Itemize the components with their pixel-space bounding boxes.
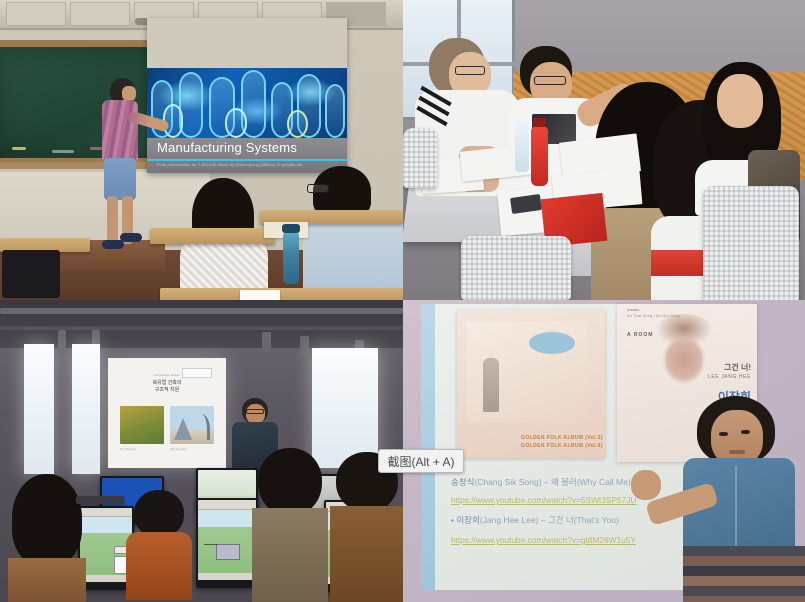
photo-top-right-group-discussion — [403, 0, 805, 300]
tr-chair-far-left — [403, 128, 437, 188]
tr-p2-glasses — [534, 76, 566, 85]
tl-presenter — [98, 78, 140, 253]
bl-thumb-caption-left: 목조 주택 사례 1 — [120, 448, 164, 451]
br-album-a-line2: GOLDEN FOLK ALBUM (Vol.6) — [511, 443, 603, 451]
bl-window-left — [24, 344, 54, 474]
bl-student-1-hair — [12, 474, 82, 566]
tl-presenter-shorts — [104, 158, 136, 200]
bl-student-right-back — [330, 452, 403, 602]
bl-screen-sketchup-center — [198, 500, 256, 580]
tl-student-glasses — [305, 166, 400, 300]
bl-student-3-top — [252, 508, 328, 602]
bl-instructor-face — [246, 404, 265, 424]
br-album-b-room: A ROOM — [627, 332, 653, 338]
tr-red-bottle — [531, 126, 548, 186]
bl-student-front-left — [8, 474, 86, 602]
br-lecturer-hand-gesture — [631, 470, 661, 500]
tl-chair-left — [2, 250, 60, 298]
br-lecturer-striped-lower — [683, 546, 805, 602]
bl-student-orange — [126, 490, 192, 600]
bl-slide-title-2: 구조적 지원 — [136, 387, 198, 394]
bl-projection-screen: Architecture Design 북유럽 건축의 구조적 지원 목조 주택… — [108, 358, 226, 468]
bl-student-center-back — [252, 448, 328, 602]
br-screen-blue-edge — [421, 304, 435, 590]
tl-presenter-shoe-right — [120, 233, 142, 242]
tr-p5-face — [717, 74, 763, 128]
tr-red-bottle-cap — [533, 118, 546, 127]
br-slide-line-2-english: (Jang Hee Lee) – 그건 너(That's You) — [480, 515, 619, 525]
tl-projection-screen: Manufacturing Systems Final presentation… — [147, 18, 347, 173]
br-album-golden-folk: GOLDEN FOLK ALBUM (Vol.5) GOLDEN FOLK AL… — [457, 310, 605, 458]
br-slide-url-1-text[interactable]: https://www.youtube.com/watch?v=5SWt3SP5… — [451, 495, 636, 505]
tl-desk-front — [150, 228, 275, 244]
br-slide-line-1-english: (Chang Sik Song) – 왜 불러(Why Call Me) — [474, 477, 630, 487]
br-lecturer — [675, 396, 805, 602]
bl-screen-sketchup-left — [80, 508, 132, 582]
tl-water-bottle — [283, 232, 299, 284]
bl-slide-logo-box — [182, 368, 212, 378]
tl-slide-accent-rule — [147, 159, 347, 161]
br-slide-url-2[interactable]: https://www.youtube.com/watch?v=gt8M26W1… — [451, 530, 636, 548]
bl-slide-title-1: 북유럽 건축의 — [136, 380, 198, 387]
bl-student-1-top — [8, 558, 86, 602]
screenshot-capture-tooltip[interactable]: 截图(Alt + A) — [378, 449, 464, 473]
bl-student-4-top — [330, 506, 403, 602]
tl-student-2-glasses — [307, 184, 329, 193]
br-album-b-korean-title: 그건 너! — [724, 362, 751, 373]
bl-student-2-hair — [134, 490, 184, 538]
bl-student-3-hair — [258, 448, 322, 516]
br-slide-line-2-korean: • 이장희 — [451, 515, 480, 525]
tr-chair-right — [703, 186, 799, 300]
bl-slide-thumbnail-right — [170, 406, 214, 444]
bl-monitor-sketchup-center — [196, 498, 258, 588]
tr-p1-glasses — [455, 66, 485, 75]
bl-student-2-top — [126, 532, 192, 600]
bl-thumb-caption-right: 현대 구조 사례 2 — [170, 448, 214, 451]
tl-slide-image-pipes — [147, 68, 347, 138]
tl-bottle-cap — [282, 224, 300, 233]
tl-presenter-face — [122, 86, 136, 101]
tl-presenter-shirt — [102, 100, 138, 162]
tl-paper-sheet — [240, 290, 280, 300]
br-album-b-stereo: STEREO — [627, 308, 639, 312]
tr-clear-bottle — [515, 120, 529, 172]
bl-slide-thumbnail-left — [120, 406, 164, 444]
tl-desk-bottom — [160, 288, 403, 300]
bl-instructor-glasses — [246, 409, 264, 414]
tr-chair-front-left — [461, 236, 571, 300]
br-slide-line-2: • 이장희(Jang Hee Lee) – 그건 너(That's You) — [451, 510, 619, 528]
photo-top-left-lecture-presentation: Manufacturing Systems Final presentation… — [0, 0, 403, 300]
br-slide-line-1-korean: 송창식 — [451, 477, 474, 487]
br-album-b-english-name: LEE JANG HEE — [708, 374, 751, 380]
br-slide-line-1: 송창식(Chang Sik Song) – 왜 불러(Why Call Me) — [451, 472, 631, 490]
br-slide-url-2-text[interactable]: https://www.youtube.com/watch?v=gt8M26W1… — [451, 535, 636, 545]
br-album-b-subtitle: All That Song / All Girl Song — [627, 314, 680, 320]
tl-presenter-leg-left — [107, 196, 118, 244]
photo-bottom-left-computer-lab: Architecture Design 북유럽 건축의 구조적 지원 목조 주택… — [0, 300, 403, 602]
br-slide-url-1[interactable]: https://www.youtube.com/watch?v=5SWt3SP5… — [451, 490, 636, 508]
tl-slide-title: Manufacturing Systems — [157, 140, 297, 155]
bl-desk-edge — [76, 496, 124, 504]
tl-presenter-shoe-left — [102, 240, 124, 249]
br-album-a-line1: GOLDEN FOLK ALBUM (Vol.5) — [511, 435, 603, 443]
photo-collage: Manufacturing Systems Final presentation… — [0, 0, 805, 602]
bl-window-left-2 — [72, 344, 100, 474]
